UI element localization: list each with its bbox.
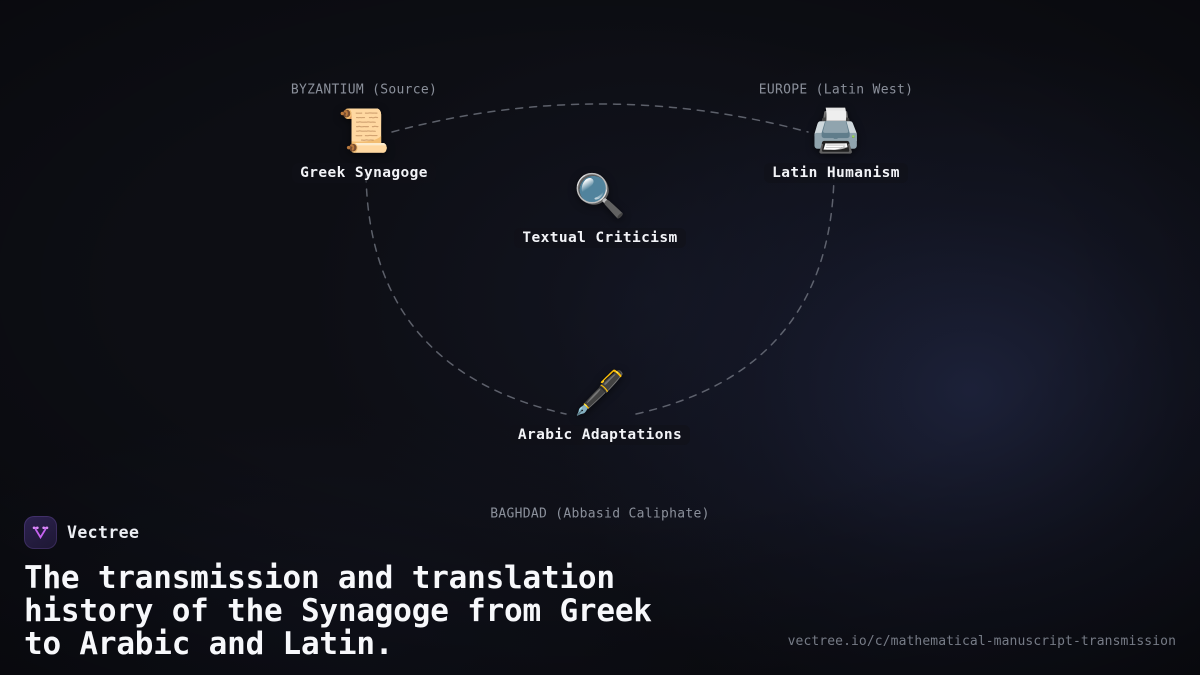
brand-name: Vectree [67, 523, 139, 542]
page-title: The transmission and translation history… [24, 562, 784, 661]
node-label: Greek Synagoge [292, 163, 436, 183]
region-label-byzantium: BYZANTIUM (Source) [291, 83, 437, 98]
region-label-europe: EUROPE (Latin West) [759, 83, 913, 98]
fountain-pen-icon: 🖋️ [574, 369, 626, 417]
scroll-icon: 📜 [338, 107, 390, 155]
node-arabic-adaptations[interactable]: 🖋️ Arabic Adaptations [470, 369, 730, 445]
node-greek-synagoge[interactable]: 📜 Greek Synagoge [234, 107, 494, 183]
node-label: Latin Humanism [764, 163, 908, 183]
printer-icon: 🖨️ [810, 107, 862, 155]
node-latin-humanism[interactable]: 🖨️ Latin Humanism [706, 107, 966, 183]
brand-row[interactable]: Vectree [24, 516, 1176, 549]
node-textual-criticism[interactable]: 🔍 Textual Criticism [470, 172, 730, 248]
vectree-logo-icon [24, 516, 57, 549]
footer: Vectree The transmission and translation… [0, 516, 1200, 675]
source-url: vectree.io/c/mathematical-manuscript-tra… [788, 634, 1176, 649]
node-label: Arabic Adaptations [510, 425, 690, 445]
magnifying-glass-icon: 🔍 [574, 172, 626, 220]
node-label: Textual Criticism [514, 228, 685, 248]
